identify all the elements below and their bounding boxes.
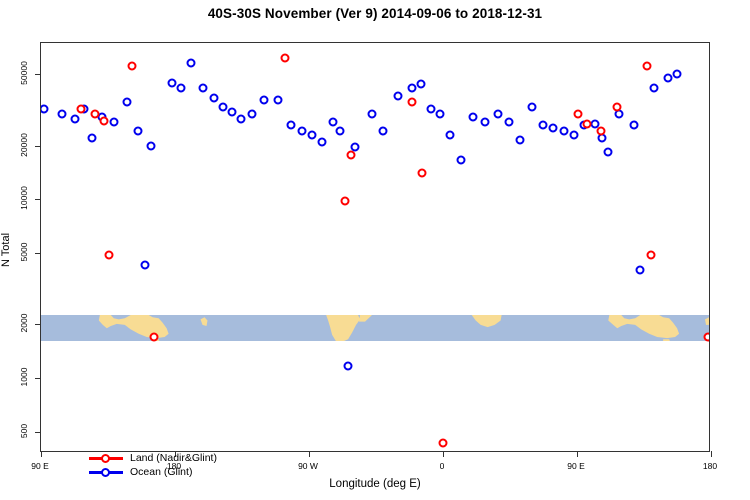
- data-point-ocean: [147, 141, 156, 150]
- landmass-tasmania-wrap: [663, 339, 670, 341]
- world-map-band: [41, 315, 709, 341]
- x-tick-label: 90 W: [298, 461, 318, 471]
- data-point-ocean: [297, 127, 306, 136]
- data-point-land: [596, 127, 605, 136]
- data-point-ocean: [494, 110, 503, 119]
- y-tick: [35, 378, 41, 379]
- data-point-ocean: [559, 127, 568, 136]
- legend: Land (Nadir&Glint)Ocean (Glint): [89, 451, 217, 479]
- legend-marker-icon: [89, 452, 123, 464]
- data-point-ocean: [343, 361, 352, 370]
- legend-entry: Ocean (Glint): [89, 465, 217, 479]
- x-tick-label: 90 E: [567, 461, 585, 471]
- data-point-ocean: [318, 137, 327, 146]
- data-point-land: [407, 98, 416, 107]
- y-axis-title: N Total: [0, 233, 12, 267]
- x-tick-label: 0: [440, 461, 445, 471]
- data-point-ocean: [367, 110, 376, 119]
- data-point-ocean: [57, 110, 66, 119]
- data-point-ocean: [227, 107, 236, 116]
- data-point-ocean: [209, 93, 218, 102]
- y-tick: [35, 253, 41, 254]
- data-point-ocean: [629, 121, 638, 130]
- data-point-ocean: [199, 83, 208, 92]
- data-point-ocean: [123, 98, 132, 107]
- data-point-ocean: [394, 91, 403, 100]
- y-tick-label: 50000: [19, 62, 29, 86]
- data-point-land: [150, 332, 159, 341]
- data-point-land: [574, 110, 583, 119]
- landmass-africa: [472, 315, 502, 327]
- data-point-ocean: [236, 115, 245, 124]
- data-point-ocean: [456, 156, 465, 165]
- figure: 40S-30S November (Ver 9) 2014-09-06 to 2…: [0, 0, 750, 500]
- y-tick-label: 10000: [19, 186, 29, 210]
- chart-title: 40S-30S November (Ver 9) 2014-09-06 to 2…: [0, 6, 750, 21]
- data-point-ocean: [260, 95, 269, 104]
- y-tick-label: 1000: [19, 367, 29, 386]
- y-tick: [35, 146, 41, 147]
- data-point-ocean: [570, 130, 579, 139]
- landmass-australia-wrap: [608, 315, 679, 338]
- x-tick-label: 180: [167, 461, 181, 471]
- data-point-land: [346, 150, 355, 159]
- data-point-ocean: [549, 124, 558, 133]
- x-tick: [577, 451, 578, 457]
- data-point-ocean: [480, 118, 489, 127]
- landmass-new-zealand: [201, 317, 208, 326]
- data-point-ocean: [663, 73, 672, 82]
- data-point-land: [418, 169, 427, 178]
- data-point-land: [340, 196, 349, 205]
- data-point-ocean: [218, 102, 227, 111]
- data-point-ocean: [604, 147, 613, 156]
- y-tick-label: 5000: [19, 243, 29, 262]
- data-point-land: [439, 439, 448, 448]
- data-point-ocean: [504, 118, 513, 127]
- y-tick: [35, 324, 41, 325]
- data-point-ocean: [468, 112, 477, 121]
- x-tick: [309, 451, 310, 457]
- data-point-ocean: [336, 127, 345, 136]
- data-point-ocean: [273, 95, 282, 104]
- data-point-ocean: [307, 130, 316, 139]
- data-point-ocean: [528, 102, 537, 111]
- x-tick: [443, 451, 444, 457]
- data-point-ocean: [287, 121, 296, 130]
- y-tick: [35, 74, 41, 75]
- data-point-ocean: [41, 105, 48, 114]
- data-point-ocean: [672, 70, 681, 79]
- y-tick: [35, 432, 41, 433]
- data-point-land: [105, 251, 114, 260]
- x-tick: [711, 451, 712, 457]
- data-point-ocean: [168, 78, 177, 87]
- data-point-ocean: [516, 135, 525, 144]
- data-point-land: [99, 116, 108, 125]
- plot-area: [41, 43, 709, 451]
- data-point-ocean: [187, 58, 196, 67]
- landmass-new-zealand-wrap: [705, 317, 709, 325]
- y-axis-title-container: N Total: [0, 0, 20, 500]
- data-point-land: [77, 105, 86, 114]
- y-tick-label: 500: [19, 424, 29, 438]
- data-point-ocean: [71, 115, 80, 124]
- x-tick: [41, 451, 42, 457]
- data-point-ocean: [141, 260, 150, 269]
- data-point-ocean: [635, 266, 644, 275]
- data-point-ocean: [248, 110, 257, 119]
- data-point-land: [613, 102, 622, 111]
- data-point-ocean: [416, 80, 425, 89]
- legend-entry: Land (Nadir&Glint): [89, 451, 217, 465]
- data-point-ocean: [407, 83, 416, 92]
- data-point-land: [281, 53, 290, 62]
- data-point-land: [90, 110, 99, 119]
- data-point-ocean: [176, 83, 185, 92]
- y-tick: [35, 199, 41, 200]
- data-point-ocean: [427, 105, 436, 114]
- data-point-ocean: [87, 134, 96, 143]
- data-point-ocean: [133, 127, 142, 136]
- x-axis-title: Longitude (deg E): [0, 478, 750, 490]
- data-point-land: [704, 332, 709, 341]
- data-point-ocean: [446, 130, 455, 139]
- data-point-land: [642, 61, 651, 70]
- data-point-land: [127, 61, 136, 70]
- x-tick-label: 90 E: [31, 461, 49, 471]
- data-point-ocean: [379, 127, 388, 136]
- data-point-ocean: [328, 118, 337, 127]
- data-point-ocean: [538, 121, 547, 130]
- data-point-ocean: [436, 110, 445, 119]
- data-point-ocean: [650, 83, 659, 92]
- data-point-land: [583, 119, 592, 128]
- landmass-south-america-tip: [359, 315, 372, 322]
- x-tick-label: 180: [703, 461, 717, 471]
- legend-marker-icon: [89, 466, 123, 478]
- plot-frame: Land (Nadir&Glint)Ocean (Glint): [40, 42, 710, 452]
- legend-label: Ocean (Glint): [130, 465, 192, 479]
- landmass-south-america: [326, 315, 360, 341]
- y-tick-label: 20000: [19, 133, 29, 157]
- y-tick-label: 2000: [19, 314, 29, 333]
- data-point-land: [647, 250, 656, 259]
- data-point-ocean: [109, 118, 118, 127]
